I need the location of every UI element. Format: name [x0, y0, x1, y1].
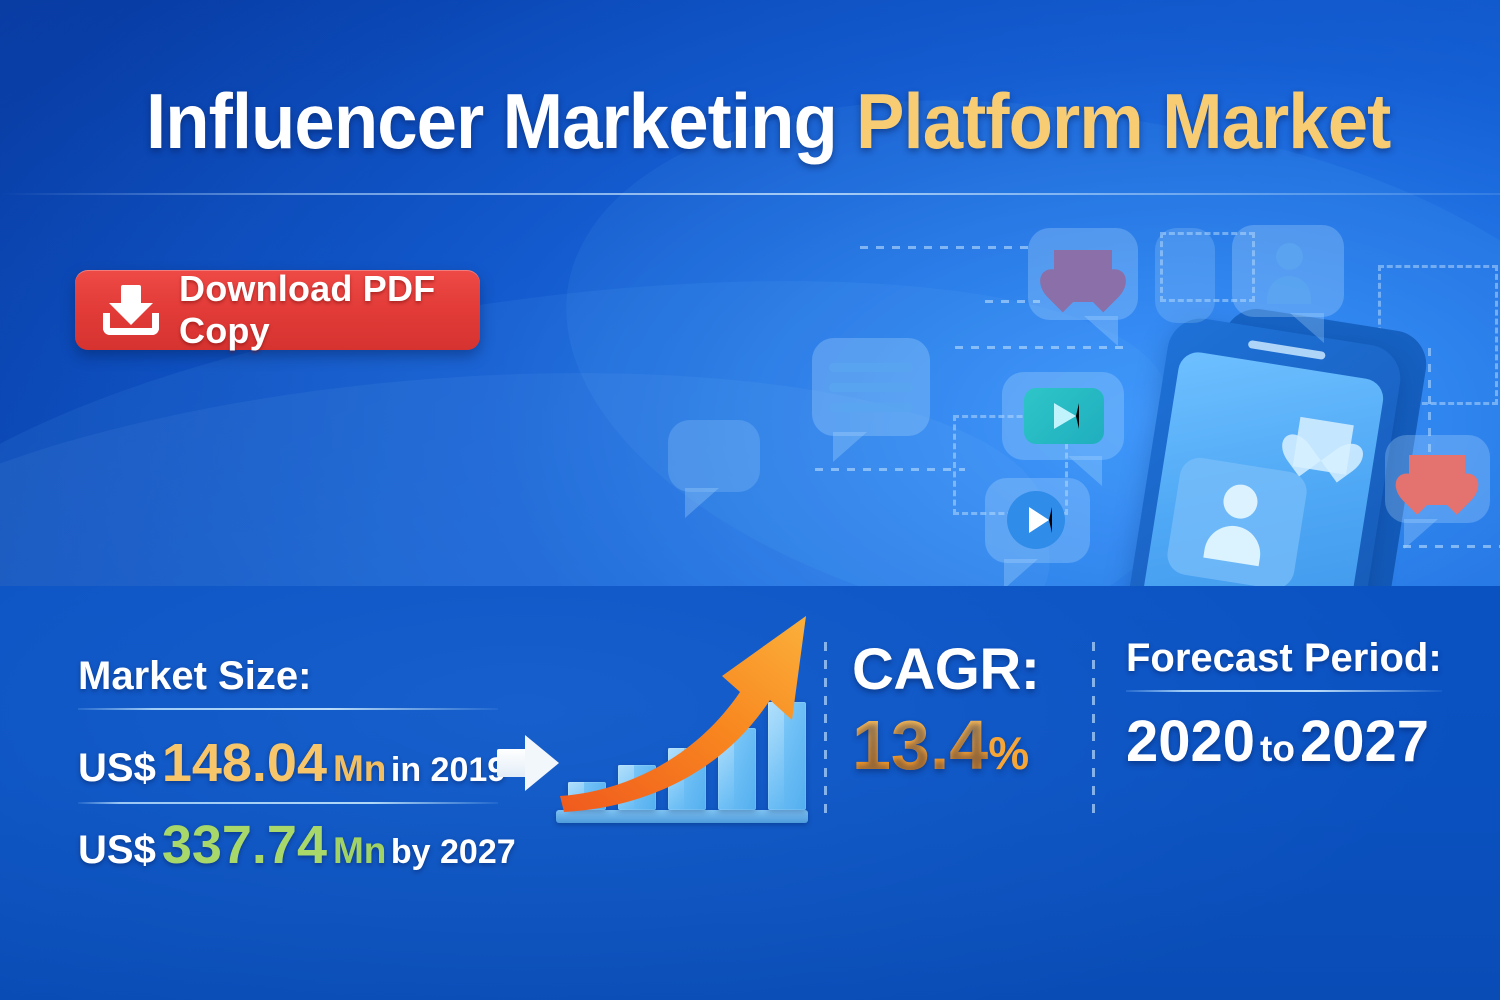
market-unit-2019: Mn: [333, 748, 386, 789]
chat-bubble-heart-red: [1385, 435, 1490, 523]
heart-icon-red: [1409, 455, 1465, 505]
forecast-heading: Forecast Period:: [1126, 636, 1442, 681]
cagr-value: 13.4: [852, 706, 988, 784]
phone-screen: [1138, 349, 1386, 586]
title-primary: Influencer Marketing: [146, 77, 856, 165]
currency-label-2019: US$: [78, 746, 156, 790]
forecast-underline: [1126, 690, 1442, 692]
divider-chart-cagr: [824, 642, 827, 817]
chat-bubble-blank: [668, 420, 760, 492]
chat-bubble-play: [985, 478, 1090, 563]
avatar-card: [1165, 455, 1310, 586]
chat-bubble-video: [1002, 372, 1124, 460]
heart-icon-screen: [1293, 417, 1354, 475]
market-value-2019: 148.04: [162, 733, 327, 793]
forecast-start-year: 2020: [1126, 709, 1255, 774]
market-unit-2027: Mn: [333, 830, 386, 871]
market-size-heading: Market Size:: [78, 654, 498, 699]
divider-cagr-forecast: [1092, 642, 1095, 817]
market-size-row-2019: US$148.04Mn in 2019: [78, 732, 498, 794]
dashed-line-a: [860, 246, 1035, 249]
download-icon: [103, 283, 165, 337]
market-size-block: Market Size: US$148.04Mn in 2019 US$337.…: [78, 654, 498, 876]
title-accent: Platform Market: [856, 77, 1390, 165]
cagr-value-row: 13.4%: [852, 705, 1040, 785]
forecast-block: Forecast Period: 2020to2027: [1126, 636, 1442, 775]
play-icon: [1054, 403, 1079, 429]
title-divider: [0, 193, 1500, 195]
dashed-line-b: [955, 346, 1125, 349]
forecast-connector: to: [1260, 728, 1295, 769]
page-title: Influencer Marketing Platform Market: [146, 76, 1390, 167]
market-suffix-2027: by 2027: [391, 833, 516, 871]
cagr-symbol: %: [988, 727, 1029, 779]
chat-bubble-heart: [1028, 228, 1138, 320]
chat-bubble-text: [812, 338, 930, 436]
person-icon: [1197, 479, 1276, 567]
play-circle-icon: [1007, 491, 1065, 549]
market-size-separator: [78, 802, 498, 804]
forecast-end-year: 2027: [1300, 709, 1429, 774]
video-thumbnail: [1024, 388, 1104, 444]
chat-bubble-person: [1232, 225, 1344, 317]
market-size-row-2027: US$337.74Mn by 2027: [78, 814, 498, 876]
infographic-canvas: Influencer Marketing Platform Market Dow…: [0, 0, 1500, 1000]
download-pdf-button[interactable]: Download PDF Copy: [75, 270, 480, 350]
market-size-underline: [78, 708, 498, 710]
heart-icon-purple: [1054, 250, 1112, 302]
growth-arrow-icon: [544, 600, 834, 825]
forecast-years-row: 2020to2027: [1126, 708, 1442, 775]
bubble-text-lines: [829, 363, 914, 423]
currency-label-2027: US$: [78, 828, 156, 872]
play-icon-inner: [1029, 507, 1052, 533]
market-suffix-2019: in 2019: [391, 751, 506, 789]
dashed-line-c: [815, 468, 965, 471]
chat-bubble-corner: [1155, 228, 1215, 323]
download-pdf-label: Download PDF Copy: [179, 268, 480, 352]
market-value-2027: 337.74: [162, 815, 327, 875]
person-icon-bubble: [1263, 243, 1315, 303]
cagr-heading: CAGR:: [852, 636, 1040, 703]
cagr-block: CAGR: 13.4%: [852, 636, 1040, 785]
